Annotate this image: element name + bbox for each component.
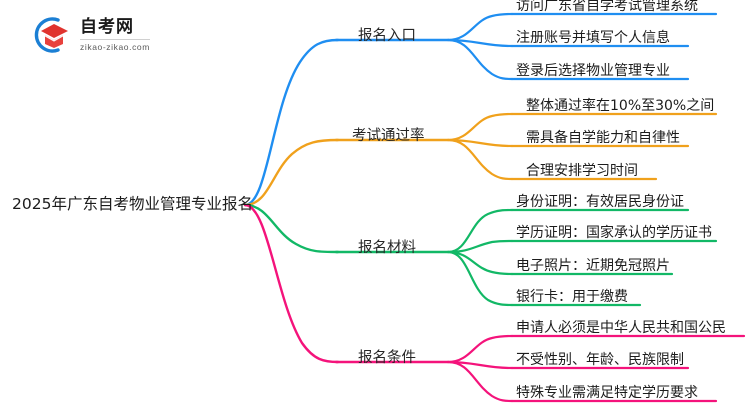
leaf-line-3-1: [448, 210, 512, 252]
root-node-label[interactable]: 2025年广东自考物业管理专业报名: [12, 197, 253, 213]
leaf-label-2-3[interactable]: 合理安排学习时间: [526, 164, 638, 178]
leaf-line-1-3: [448, 40, 512, 79]
leaf-line-3-4: [448, 252, 512, 305]
leaf-label-2-1[interactable]: 整体通过率在10%至30%之间: [526, 99, 714, 113]
trunk-line-2: [245, 140, 338, 205]
leaf-line-2-3: [448, 140, 512, 179]
site-logo: 自考网 zikao-zikao.com: [28, 10, 228, 60]
logo-site-name: 自考网: [80, 18, 150, 40]
leaf-label-3-1[interactable]: 身份证明：有效居民身份证: [516, 195, 684, 209]
leaf-label-3-2[interactable]: 学历证明：国家承认的学历证书: [516, 226, 712, 240]
leaf-label-4-3[interactable]: 特殊专业需满足特定学历要求: [516, 386, 698, 400]
logo-text: 自考网 zikao-zikao.com: [80, 18, 150, 52]
branch-label-3[interactable]: 报名材料: [358, 241, 416, 256]
leaf-label-2-2[interactable]: 需具备自学能力和自律性: [526, 131, 680, 145]
leaf-label-1-1[interactable]: 访问广东省自学考试管理系统: [516, 0, 698, 13]
trunk-line-4: [245, 205, 338, 362]
leaf-line-3-3: [448, 252, 512, 274]
leaf-label-3-4[interactable]: 银行卡：用于缴费: [516, 290, 628, 304]
leaf-line-1-1: [448, 14, 512, 40]
leaf-line-3-2: [448, 241, 512, 252]
mindmap-canvas: 自考网 zikao-zikao.com: [0, 0, 750, 410]
leaf-line-4-1: [448, 336, 512, 362]
graduation-cap-logo-icon: [28, 14, 74, 56]
branch-label-4[interactable]: 报名条件: [358, 351, 416, 366]
leaf-line-4-3: [448, 362, 512, 401]
leaf-line-4-2: [448, 362, 512, 368]
leaf-label-3-3[interactable]: 电子照片：近期免冠照片: [516, 259, 670, 273]
branch-label-1[interactable]: 报名入口: [358, 29, 416, 44]
leaf-line-2-2: [448, 140, 512, 146]
trunk-line-3: [245, 205, 338, 252]
branch-label-2[interactable]: 考试通过率: [352, 129, 425, 144]
leaf-line-1-2: [448, 40, 512, 46]
leaf-label-1-3[interactable]: 登录后选择物业管理专业: [516, 64, 670, 78]
leaf-label-1-2[interactable]: 注册账号并填写个人信息: [516, 31, 670, 45]
leaf-label-4-2[interactable]: 不受性别、年龄、民族限制: [516, 353, 684, 367]
logo-site-url: zikao-zikao.com: [80, 42, 150, 52]
leaf-label-4-1[interactable]: 申请人必须是中华人民共和国公民: [516, 321, 726, 335]
trunk-line-1: [245, 40, 338, 205]
leaf-line-2-1: [448, 114, 512, 140]
